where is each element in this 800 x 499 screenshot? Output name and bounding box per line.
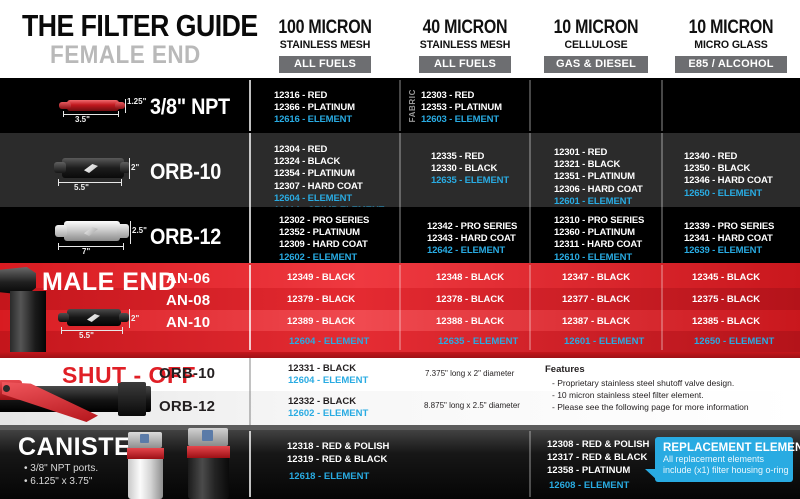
column-material: STAINLESS MESH bbox=[403, 38, 528, 52]
canister-illustration-black bbox=[182, 427, 244, 499]
table-row-npt: 3.5" 1.25" 3/8" NPT 12316 - RED 12366 - … bbox=[0, 78, 800, 133]
column-header-3: 10 MICRON MICRO GLASS E85 / ALCOHOL bbox=[662, 18, 800, 73]
dimension-diameter: 2" bbox=[131, 314, 139, 323]
column-header-2: 10 MICRON CELLULOSE GAS & DIESEL bbox=[530, 18, 662, 73]
dimension-length: 7" bbox=[82, 247, 90, 256]
part-number: 12378 - BLACK bbox=[436, 294, 504, 305]
cell-orb10-10micron-cellulose: 12301 - RED 12321 - BLACK 12351 - PLATIN… bbox=[554, 147, 643, 208]
page-title: THE FILTER GUIDE bbox=[22, 8, 258, 44]
part-number-element: 12602 - ELEMENT bbox=[288, 408, 368, 419]
part-number: 12306 - HARD COAT bbox=[554, 184, 643, 196]
part-number: 12311 - HARD COAT bbox=[554, 239, 644, 251]
size-label-an06: AN-06 bbox=[166, 270, 210, 287]
column-fuel-tag: GAS & DIESEL bbox=[544, 56, 648, 73]
column-micron: 10 MICRON bbox=[673, 18, 789, 37]
callout-title: REPLACEMENT ELEMENTS bbox=[663, 442, 785, 454]
section-divider-grey bbox=[0, 425, 800, 430]
cell-npt-100micron: 12316 - RED 12366 - PLATINUM 12616 - ELE… bbox=[274, 90, 355, 127]
canister-illustration-polish bbox=[120, 431, 178, 499]
feature-item: - Please see the following page for more… bbox=[552, 402, 749, 412]
dimension-length: 3.5" bbox=[75, 115, 90, 124]
filter-illustration-orb10: 5.5" 2" bbox=[52, 148, 152, 196]
part-number: 12379 - BLACK bbox=[287, 294, 355, 305]
part-number: 12346 - HARD COAT bbox=[684, 175, 773, 187]
callout-line: All replacement elements bbox=[663, 454, 785, 465]
dimension-length: 5.5" bbox=[74, 183, 89, 192]
part-number: 12302 - PRO SERIES bbox=[279, 215, 369, 227]
part-number: 12316 - RED bbox=[274, 90, 355, 102]
part-number: 12375 - BLACK bbox=[692, 294, 760, 305]
canister-section: CANISTER • 3/8" NPT ports. • 6.125" x 3.… bbox=[0, 425, 800, 499]
cell-orb12-40micron: 12342 - PRO SERIES 12343 - HARD COAT 126… bbox=[427, 221, 517, 258]
filter-illustration-npt: 3.5" 1.25" bbox=[55, 87, 150, 123]
column-header-0: 100 MICRON STAINLESS MESH ALL FUELS bbox=[250, 18, 400, 73]
part-number-element: 12650 - ELEMENT bbox=[694, 336, 774, 347]
row-label-npt: 3/8" NPT bbox=[150, 94, 230, 120]
part-number: 12351 - PLATINUM bbox=[554, 171, 643, 183]
size-label-an08: AN-08 bbox=[166, 292, 210, 309]
part-number-element: 12604 - ELEMENT bbox=[274, 193, 384, 205]
part-number: 12389 - BLACK bbox=[287, 316, 355, 327]
page-subtitle: FEMALE END bbox=[50, 41, 201, 70]
row-label-orb10: ORB-10 bbox=[150, 159, 221, 185]
callout-line: include (x1) filter housing o-ring bbox=[663, 465, 785, 476]
shut-off-section: SHUT - OFF ORB-10 ORB-12 12331 - BLACK 1… bbox=[0, 352, 800, 425]
column-micron: 100 MICRON bbox=[262, 18, 388, 37]
part-number: 12348 - BLACK bbox=[436, 272, 504, 283]
cell-orb12-100micron: 12302 - PRO SERIES 12352 - PLATINUM 1230… bbox=[279, 215, 369, 264]
part-number-element: 12616 - ELEMENT bbox=[274, 114, 355, 126]
dimension-diameter: 1.25" bbox=[127, 97, 146, 106]
part-number: 12366 - PLATINUM bbox=[274, 102, 355, 114]
part-number: 12343 - HARD COAT bbox=[427, 233, 517, 245]
shut-off-dimension-orb10: 7.375" long x 2" diameter bbox=[425, 369, 514, 378]
column-material: CELLULOSE bbox=[533, 38, 660, 52]
part-number: 12309 - HARD COAT bbox=[279, 239, 369, 251]
part-number: 12331 - BLACK bbox=[288, 363, 356, 374]
column-material: STAINLESS MESH bbox=[253, 38, 397, 52]
cell-orb12-10micron-microglass: 12339 - PRO SERIES 12341 - HARD COAT 126… bbox=[684, 221, 774, 258]
part-number: 12377 - BLACK bbox=[562, 294, 630, 305]
dimension-diameter: 2.5" bbox=[132, 226, 147, 235]
part-number: 12385 - BLACK bbox=[692, 316, 760, 327]
table-body: 3.5" 1.25" 3/8" NPT 12316 - RED 12366 - … bbox=[0, 78, 800, 499]
part-number: 12321 - BLACK bbox=[554, 159, 643, 171]
part-number: 12345 - BLACK bbox=[692, 272, 760, 283]
table-row-orb10: 5.5" 2" ORB-10 12304 - RED 12324 - BLACK… bbox=[0, 133, 800, 207]
part-number: 12307 - HARD COAT bbox=[274, 181, 384, 193]
cell-orb10-40micron: 12335 - RED 12330 - BLACK 12635 - ELEMEN… bbox=[431, 151, 509, 188]
part-number: 12353 - PLATINUM bbox=[421, 102, 502, 114]
male-end-title: MALE END bbox=[42, 268, 177, 297]
replacement-elements-callout: REPLACEMENT ELEMENTS All replacement ele… bbox=[655, 437, 793, 482]
part-number: 12341 - HARD COAT bbox=[684, 233, 774, 245]
part-number: 12330 - BLACK bbox=[431, 163, 509, 175]
part-number: 12301 - RED bbox=[554, 147, 643, 159]
shut-off-orb-12-label: ORB-12 bbox=[159, 398, 215, 415]
part-number-element: 12604 - ELEMENT bbox=[288, 375, 368, 386]
cell-orb12-10micron-cellulose: 12310 - PRO SERIES 12360 - PLATINUM 1231… bbox=[554, 215, 644, 264]
part-number: 12318 - RED & POLISH bbox=[287, 441, 389, 452]
part-number-element: 12604 - ELEMENT bbox=[289, 336, 369, 347]
table-row-orb12: 7" 2.5" ORB-12 12302 - PRO SERIES 12352 … bbox=[0, 207, 800, 263]
part-number: 12319 - RED & BLACK bbox=[287, 454, 387, 465]
part-number: 12360 - PLATINUM bbox=[554, 227, 644, 239]
filter-illustration-orb12: 7" 2.5" bbox=[52, 213, 152, 261]
dimension-length: 5.5" bbox=[79, 331, 94, 340]
part-number: 12349 - BLACK bbox=[287, 272, 355, 283]
part-number-element: 12602 - ELEMENT bbox=[279, 252, 369, 264]
column-fuel-tag: ALL FUELS bbox=[419, 56, 511, 73]
column-micron: 10 MICRON bbox=[541, 18, 652, 37]
fabric-tag: FABRIC bbox=[408, 89, 417, 122]
shut-off-orb-10-label: ORB-10 bbox=[159, 365, 215, 382]
part-number-element: 12650 - ELEMENT bbox=[684, 188, 773, 200]
features-title: Features bbox=[545, 364, 585, 375]
canister-bullet: • 3/8" NPT ports. bbox=[24, 463, 98, 474]
male-end-section: 5.5" 2" MALE END AN-06 AN-08 AN-10 12349… bbox=[0, 263, 800, 352]
filter-illustration-male: 5.5" 2" bbox=[55, 301, 155, 347]
part-number-element: 12635 - ELEMENT bbox=[438, 336, 518, 347]
part-number-element: 12635 - ELEMENT bbox=[431, 175, 509, 187]
part-number-element: 12601 - ELEMENT bbox=[564, 336, 644, 347]
part-number: 12354 - PLATINUM bbox=[274, 168, 384, 180]
part-number-element: 12639 - ELEMENT bbox=[684, 245, 774, 257]
part-number: 12308 - RED & POLISH bbox=[547, 439, 649, 450]
dimension-diameter: 2" bbox=[131, 163, 139, 172]
part-number: 12339 - PRO SERIES bbox=[684, 221, 774, 233]
part-number-element: 12618 - ELEMENT bbox=[289, 471, 369, 482]
part-number: 12340 - RED bbox=[684, 151, 773, 163]
part-number: 12303 - RED bbox=[421, 90, 502, 102]
row-label-orb12: ORB-12 bbox=[150, 224, 221, 250]
part-number: 12358 - PLATINUM bbox=[547, 465, 630, 476]
page-header: THE FILTER GUIDE FEMALE END 100 MICRON S… bbox=[0, 0, 800, 78]
feature-item: - 10 micron stainless steel filter eleme… bbox=[552, 390, 704, 400]
part-number: 12317 - RED & BLACK bbox=[547, 452, 647, 463]
part-number-element: 12608 - ELEMENT bbox=[549, 480, 629, 491]
part-number-element: 12610 - ELEMENT bbox=[554, 252, 644, 264]
part-number: 12387 - BLACK bbox=[562, 316, 630, 327]
part-number-element: 12603 - ELEMENT bbox=[421, 114, 502, 126]
column-fuel-tag: E85 / ALCOHOL bbox=[675, 56, 787, 73]
part-number: 12304 - RED bbox=[274, 144, 384, 156]
part-number: 12347 - BLACK bbox=[562, 272, 630, 283]
cell-npt-40micron: 12303 - RED 12353 - PLATINUM 12603 - ELE… bbox=[421, 90, 502, 127]
part-number: 12388 - BLACK bbox=[436, 316, 504, 327]
part-number: 12324 - BLACK bbox=[274, 156, 384, 168]
part-number: 12342 - PRO SERIES bbox=[427, 221, 517, 233]
feature-item: - Proprietary stainless steel shutoff va… bbox=[552, 378, 734, 388]
column-micron: 40 MICRON bbox=[410, 18, 519, 37]
part-number: 12332 - BLACK bbox=[288, 396, 356, 407]
part-number-element: 12642 - ELEMENT bbox=[427, 245, 517, 257]
part-number: 12350 - BLACK bbox=[684, 163, 773, 175]
column-header-1: 40 MICRON STAINLESS MESH ALL FUELS bbox=[400, 18, 530, 73]
part-number: 12310 - PRO SERIES bbox=[554, 215, 644, 227]
size-label-an10: AN-10 bbox=[166, 314, 210, 331]
canister-bullet: • 6.125" x 3.75" bbox=[24, 476, 92, 487]
part-number: 12335 - RED bbox=[431, 151, 509, 163]
part-number: 12352 - PLATINUM bbox=[279, 227, 369, 239]
column-material: MICRO GLASS bbox=[665, 38, 797, 52]
filter-guide-page: THE FILTER GUIDE FEMALE END 100 MICRON S… bbox=[0, 0, 800, 499]
column-fuel-tag: ALL FUELS bbox=[279, 56, 371, 73]
cell-orb10-10micron-microglass: 12340 - RED 12350 - BLACK 12346 - HARD C… bbox=[684, 151, 773, 200]
shut-off-dimension-orb12: 8.875" long x 2.5" diameter bbox=[424, 401, 520, 410]
